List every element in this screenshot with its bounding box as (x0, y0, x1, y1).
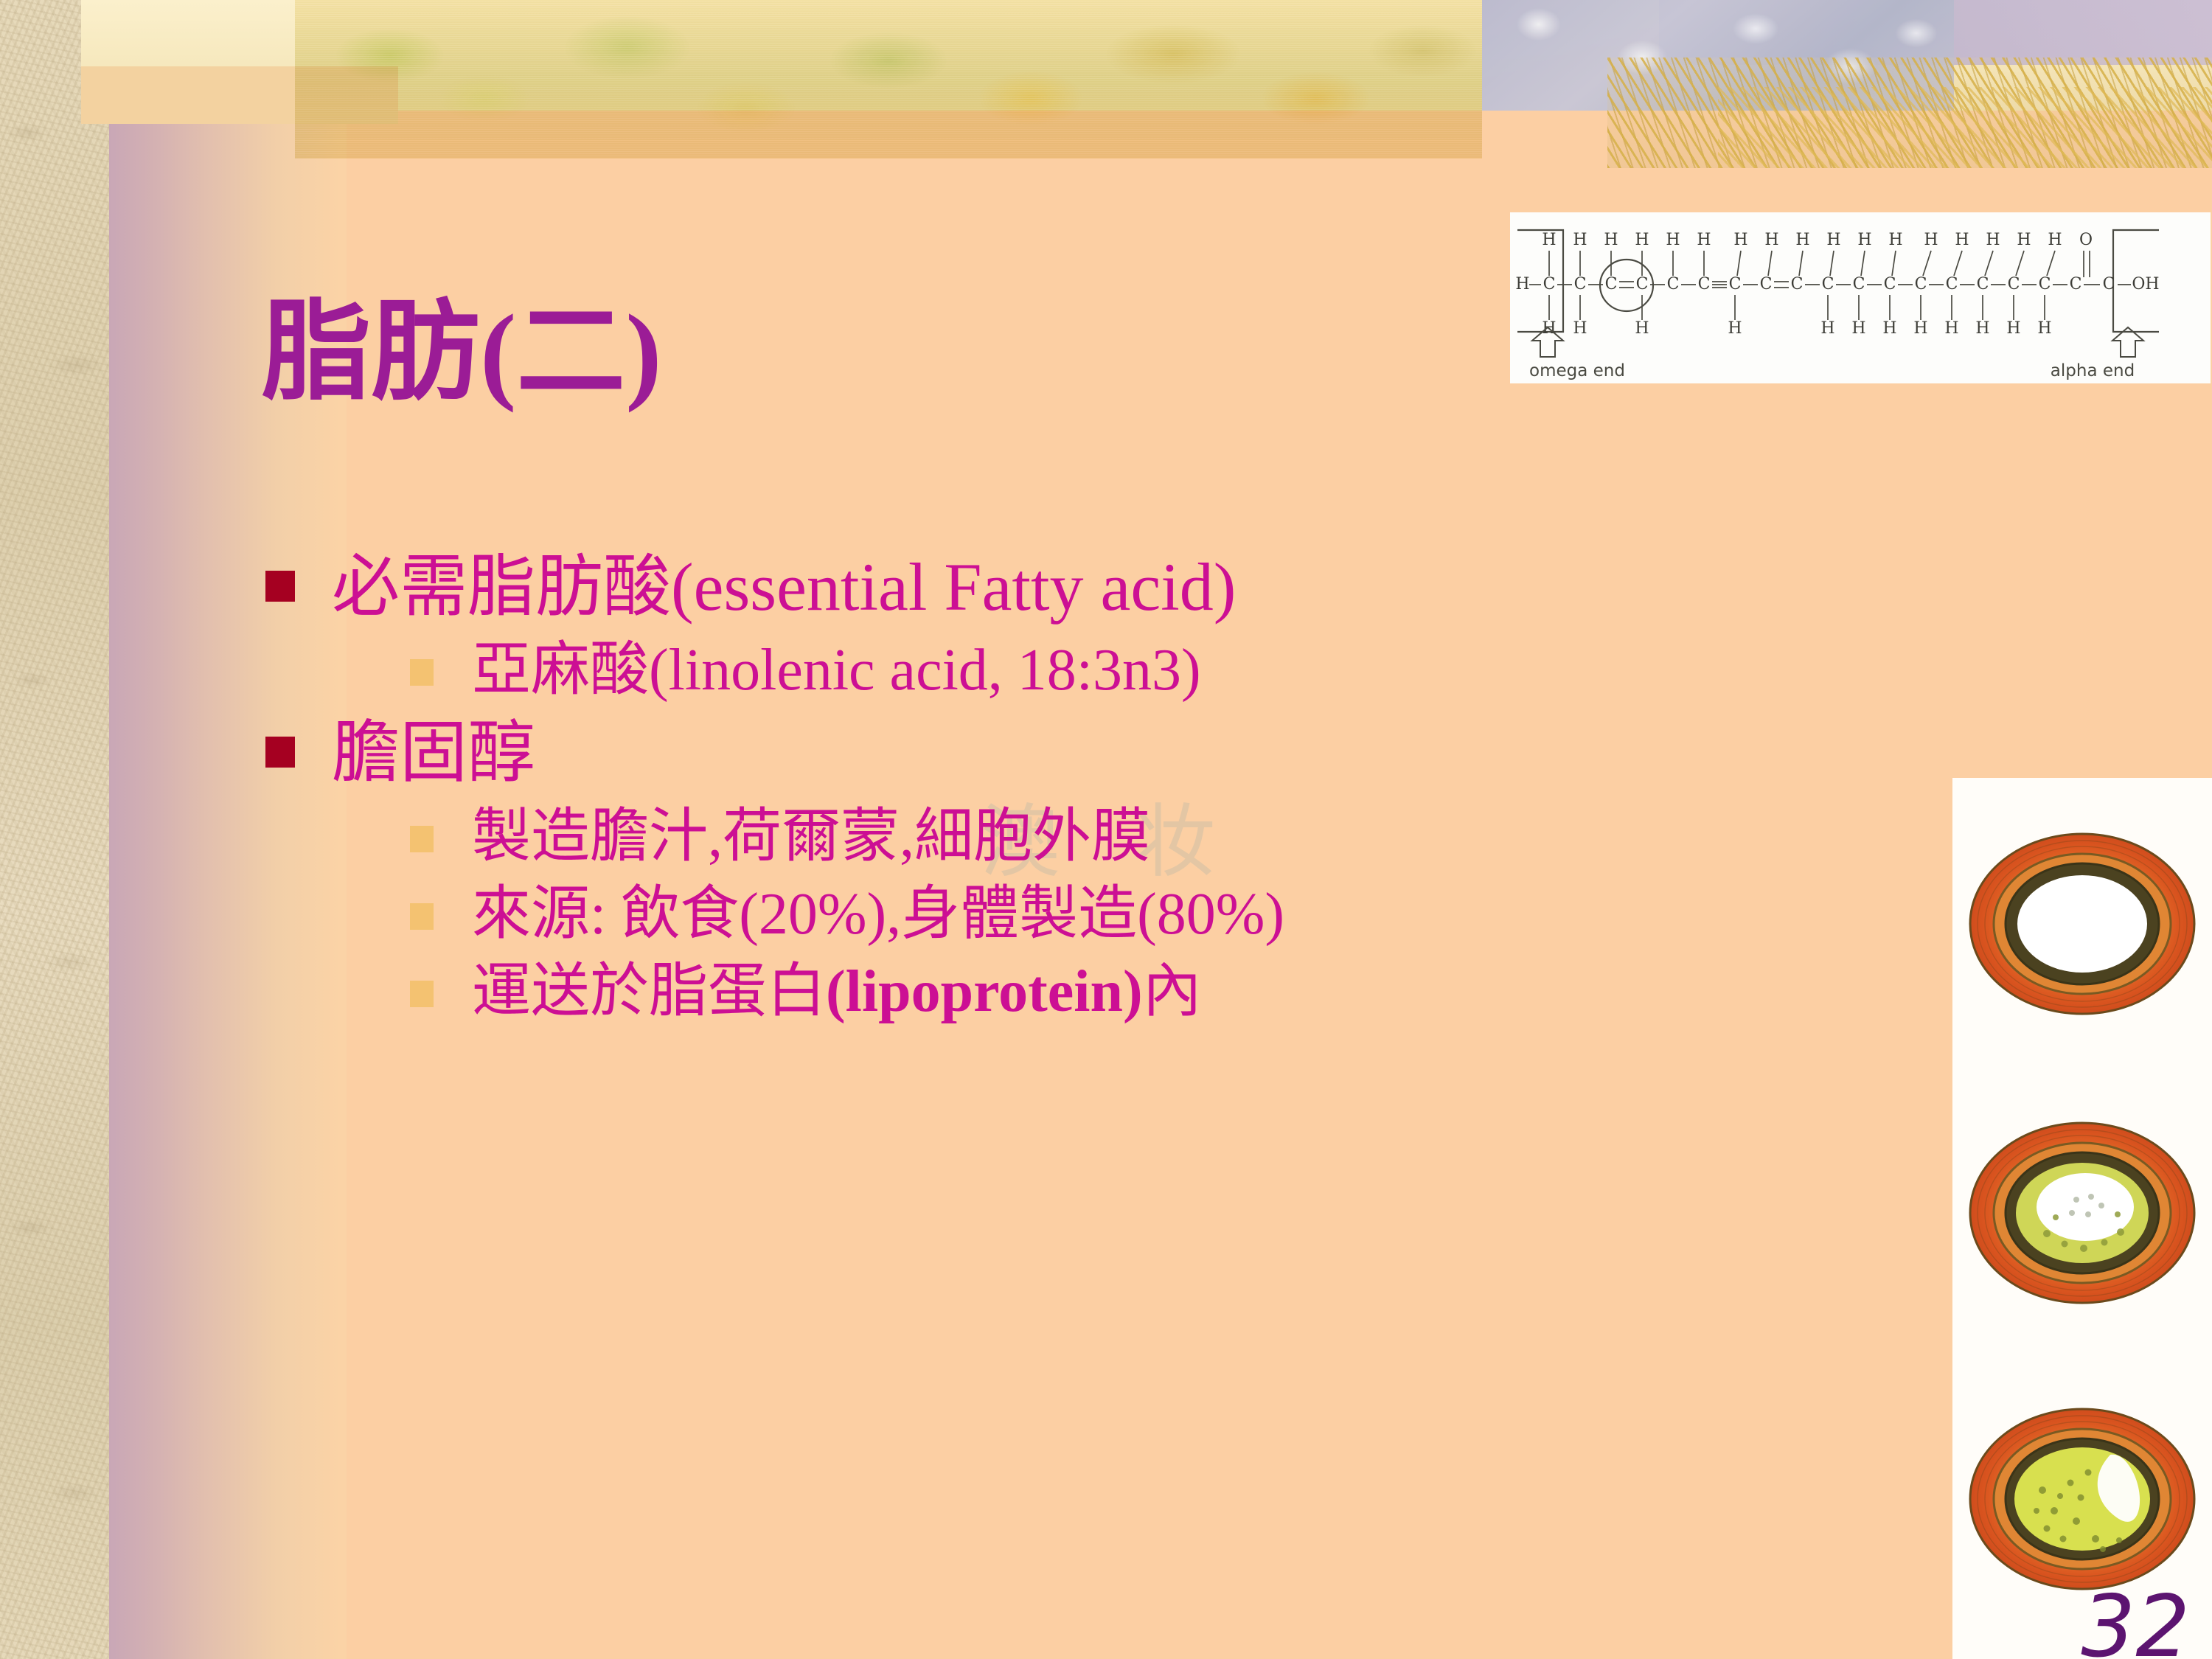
svg-text:H: H (1955, 231, 1969, 249)
svg-text:H: H (1728, 319, 1742, 338)
bullet-text: 來源: 飲食(20%),身體製造(80%) (472, 878, 1284, 951)
svg-text:O: O (2079, 231, 2093, 249)
artery-moderate-plaque-image (1966, 1088, 2199, 1338)
svg-text:H: H (1733, 231, 1747, 249)
svg-text:H: H (1944, 319, 1958, 338)
svg-text:H: H (2048, 231, 2062, 249)
svg-text:H: H (1635, 231, 1649, 249)
bullet-text-tail: 內 (1143, 959, 1202, 1024)
svg-text:C: C (1574, 275, 1587, 293)
svg-text:C: C (1853, 275, 1865, 293)
svg-text:H: H (1635, 319, 1649, 338)
svg-text:C: C (1729, 275, 1742, 293)
bullet-item-linolenic-acid: 亞麻酸(linolenic acid, 18:3n3) (410, 634, 1924, 707)
left-texture-band (0, 0, 109, 1659)
svg-text:H: H (2006, 319, 2020, 338)
svg-text:C: C (1884, 275, 1896, 293)
banner-leaf-image (295, 0, 1482, 159)
square-marker-icon (410, 826, 434, 852)
fatty-acid-diagram-svg: HHH HHH HHH HHH HHH HHO H CCC CCC CCC CC… (1510, 212, 2211, 383)
bullet-item-cholesterol: 膽固醇 (265, 712, 1924, 794)
svg-text:C: C (1698, 275, 1711, 293)
bullet-text: 膽固醇 (332, 712, 535, 794)
svg-text:OH: OH (2132, 275, 2159, 293)
svg-text:C: C (1605, 275, 1618, 293)
square-marker-icon (410, 981, 434, 1007)
svg-text:H: H (1826, 231, 1840, 249)
bullet-item-lipoprotein-transport: 運送於脂蛋白(lipoprotein)內 (410, 956, 1924, 1029)
bullet-item-source-diet-body: 來源: 飲食(20%),身體製造(80%) (410, 878, 1924, 951)
svg-text:H: H (1573, 319, 1587, 338)
svg-text:C: C (2039, 275, 2051, 293)
fatty-acid-diagram: HHH HHH HHH HHH HHH HHO H CCC CCC CCC CC… (1510, 212, 2211, 383)
svg-text:H: H (2017, 231, 2031, 249)
bullet-text-plain: 運送於脂蛋白 (472, 959, 826, 1024)
svg-text:H: H (1795, 231, 1809, 249)
svg-text:C: C (1915, 275, 1927, 293)
artery-normal-image (1966, 799, 2199, 1049)
banner-wheat-image-overlay (1718, 87, 2212, 168)
svg-text:H: H (1573, 231, 1587, 249)
svg-text:H: H (1542, 231, 1556, 249)
bullet-text-composite: 運送於脂蛋白(lipoprotein)內 (472, 956, 1202, 1029)
svg-text:C: C (1760, 275, 1773, 293)
svg-text:C: C (1822, 275, 1834, 293)
svg-text:C: C (1791, 275, 1804, 293)
omega-end-label: omega end (1529, 361, 1625, 380)
svg-text:C: C (1977, 275, 1989, 293)
svg-text:H: H (1604, 231, 1618, 249)
decorative-top-banner (0, 0, 2212, 195)
bullet-text-bold: (lipoprotein) (826, 959, 1143, 1024)
svg-text:H: H (1857, 231, 1871, 249)
svg-text:H: H (1975, 319, 1989, 338)
svg-text:C: C (1667, 275, 1680, 293)
svg-text:H: H (1666, 231, 1680, 249)
bullet-text: 必需脂肪酸(essential Fatty acid) (332, 546, 1236, 628)
svg-text:C: C (2070, 275, 2082, 293)
alpha-end-label: alpha end (2051, 361, 2135, 380)
svg-text:H: H (1697, 231, 1711, 249)
bullet-item-bile-hormone-membrane: 製造膽汁,荷爾蒙,細胞外膜 (410, 801, 1924, 874)
svg-text:H: H (2037, 319, 2051, 338)
svg-text:H: H (1820, 319, 1834, 338)
bullet-item-essential-fatty-acid: 必需脂肪酸(essential Fatty acid) (265, 546, 1924, 628)
svg-text:C: C (2008, 275, 2020, 293)
svg-text:H: H (1515, 275, 1529, 293)
svg-text:C: C (1946, 275, 1958, 293)
svg-text:C: C (1543, 275, 1556, 293)
svg-text:C: C (1636, 275, 1649, 293)
presentation-slide: HHH HHH HHH HHH HHH HHO H CCC CCC CCC CC… (0, 0, 2212, 1659)
svg-text:H: H (1913, 319, 1927, 338)
slide-title: 脂肪(二) (262, 295, 662, 413)
bullet-text: 製造膽汁,荷爾蒙,細胞外膜 (472, 801, 1150, 874)
svg-text:H: H (1882, 319, 1896, 338)
bullet-text: 亞麻酸(linolenic acid, 18:3n3) (472, 634, 1201, 707)
slide-page-number: 32 (2081, 1577, 2190, 1659)
square-marker-icon (410, 659, 434, 686)
svg-text:H: H (1888, 231, 1902, 249)
svg-text:H: H (1924, 231, 1938, 249)
svg-text:H: H (1764, 231, 1778, 249)
bullet-list: 必需脂肪酸(essential Fatty acid) 亞麻酸(linoleni… (265, 546, 1924, 1033)
artery-image-panel: 32 (1952, 778, 2212, 1659)
square-marker-icon (410, 903, 434, 930)
svg-text:H: H (1986, 231, 2000, 249)
svg-text:C: C (2103, 275, 2115, 293)
svg-text:H: H (1851, 319, 1865, 338)
square-marker-icon (265, 571, 295, 602)
square-marker-icon (265, 737, 295, 768)
